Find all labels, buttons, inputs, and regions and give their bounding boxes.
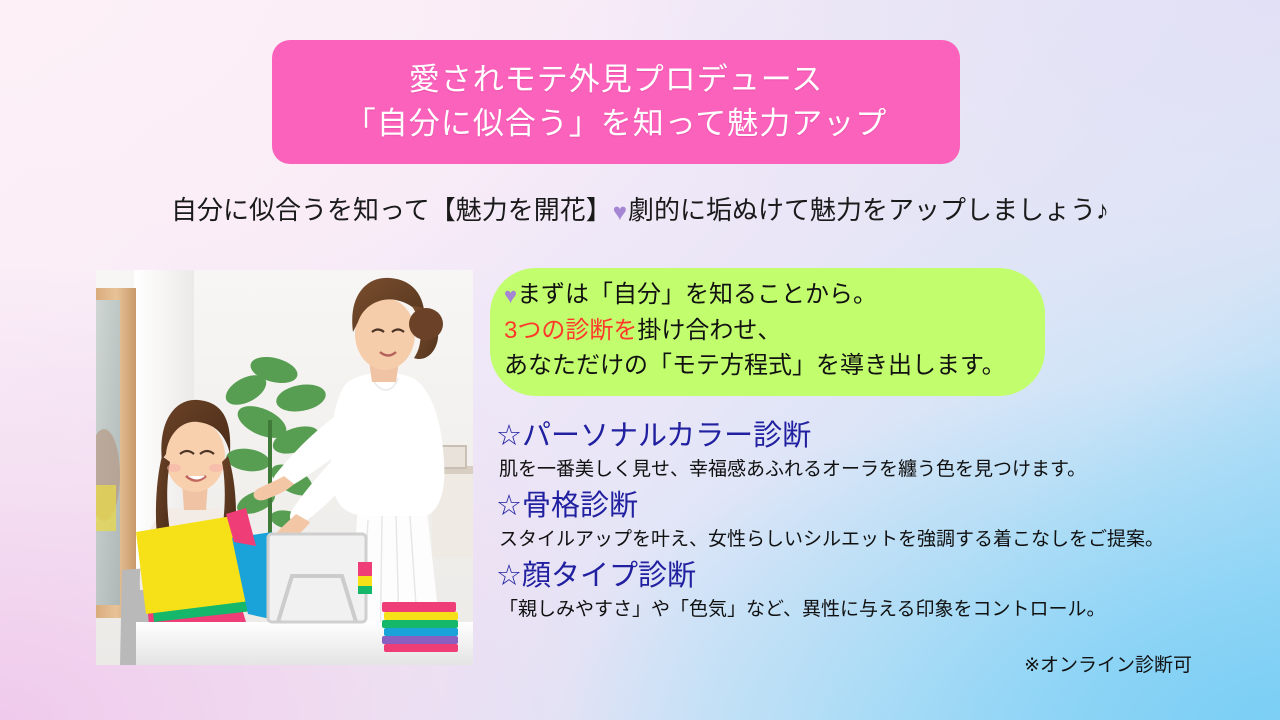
bubble-line-2: 3つの診断を掛け合わせ、 [504, 313, 1019, 348]
diagnosis-item-face-type: ☆顔タイプ診断 「親しみやすさ」や「色気」など、異性に与える印象をコントロール。 [496, 556, 1216, 624]
subtitle: 自分に似合うを知って【魅力を開花】♥劇的に垢ぬけて魅力をアップしましょう♪ [0, 192, 1280, 231]
title-line-1: 愛されモテ外見プロデュース [409, 58, 823, 102]
diagnosis-title: ☆顔タイプ診断 [496, 556, 1216, 596]
bubble-line-3: あなただけの「モテ方程式」を導き出します。 [504, 348, 1019, 383]
promo-slide: 愛されモテ外見プロデュース 「自分に似合う」を知って魅力アップ 自分に似合うを知… [0, 0, 1280, 720]
bubble-line-1: ♥まずは「自分」を知ることから。 [504, 277, 1019, 313]
diagnosis-list: ☆パーソナルカラー診断 肌を一番美しく見せ、幸福感あふれるオーラを纏う色を見つけ… [496, 416, 1216, 624]
diagnosis-item-personal-color: ☆パーソナルカラー診断 肌を一番美しく見せ、幸福感あふれるオーラを纏う色を見つけ… [496, 416, 1216, 484]
bubble-line-2-text: 掛け合わせ、 [637, 317, 781, 344]
heart-icon: ♥ [613, 195, 627, 231]
diagnosis-title: ☆骨格診断 [496, 486, 1216, 526]
subtitle-text-after: 劇的に垢ぬけて魅力をアップしましょう♪ [628, 195, 1109, 225]
diagnosis-item-body-type: ☆骨格診断 スタイルアップを叶え、女性らしいシルエットを強調する着こなしをご提案… [496, 486, 1216, 554]
diagnosis-title: ☆パーソナルカラー診断 [496, 416, 1216, 456]
bubble-line-1-text: まずは「自分」を知ることから。 [517, 281, 877, 308]
diagnosis-description: 「親しみやすさ」や「色気」など、異性に与える印象をコントロール。 [496, 596, 1216, 624]
title-line-2: 「自分に似合う」を知って魅力アップ [345, 102, 887, 146]
footnote: ※オンライン診断可 [1024, 652, 1192, 680]
title-banner: 愛されモテ外見プロデュース 「自分に似合う」を知って魅力アップ [272, 40, 960, 164]
diagnosis-description: スタイルアップを叶え、女性らしいシルエットを強調する着こなしをご提案。 [496, 526, 1216, 554]
heart-icon: ♥ [504, 283, 517, 308]
session-photo-illustration [96, 270, 473, 665]
session-photo [96, 270, 473, 665]
subtitle-text-before: 自分に似合うを知って【魅力を開花】 [171, 195, 612, 225]
key-message-bubble: ♥まずは「自分」を知ることから。 3つの診断を掛け合わせ、 あなただけの「モテ方… [490, 268, 1045, 396]
bubble-accent-text: 3つの診断を [504, 317, 637, 344]
diagnosis-description: 肌を一番美しく見せ、幸福感あふれるオーラを纏う色を見つけます。 [496, 456, 1216, 484]
